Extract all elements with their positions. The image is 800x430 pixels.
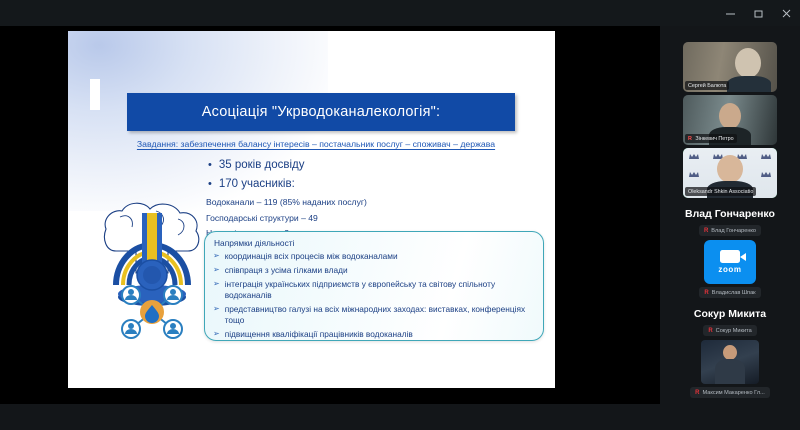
list-item: Господарські структури – 49: [206, 213, 367, 223]
window-titlebar: [0, 0, 800, 26]
close-icon[interactable]: [772, 0, 800, 26]
video-tile-participant-2[interactable]: R Зінкевич Петро: [683, 95, 777, 145]
chip-row[interactable]: R Владислав Шпак: [660, 287, 800, 298]
arrow-marker-icon: ➢: [213, 304, 220, 326]
avatar: [735, 48, 761, 78]
list-item: ➢ представництво галузі на всіх міжнарод…: [213, 304, 535, 326]
arrow-marker-icon: ➢: [213, 251, 220, 262]
page-title: Асоціація "Укрводоканалекологія":: [202, 104, 440, 120]
participant-name: Oleksandr Shkin Associatio: [688, 189, 753, 195]
participant-sidebar: Сергей Балюта R Зінкевич Петро: [660, 26, 800, 430]
zoom-meeting-window: Асоціація "Укрводоканалекологія": Завдан…: [0, 0, 800, 430]
list-item: ➢ координація всіх процесів між водокана…: [213, 251, 535, 262]
participant-name: Сокур Микита: [716, 328, 752, 334]
group-title: Влад Гончаренко: [660, 208, 800, 220]
minimize-icon[interactable]: [716, 0, 744, 26]
presentation-slide: Асоціація "Укрводоканалекологія": Завдан…: [68, 31, 555, 388]
recording-indicator-icon: R: [695, 390, 699, 396]
avatar: [719, 103, 741, 129]
group-title: Сокур Микита: [660, 308, 800, 320]
chip-row[interactable]: R Максим Макаренко Гл...: [660, 387, 800, 398]
bullet-text: 35 років досвіду: [219, 159, 305, 171]
avatar-body: [715, 359, 745, 384]
bullet-dot-icon: •: [208, 178, 212, 190]
avatar: [717, 155, 743, 183]
activity-text: представництво галузі на всіх міжнародни…: [225, 304, 535, 326]
participant-group-1: Влад Гончаренко R Влад Гончаренко zoom R…: [660, 208, 800, 298]
avatar-body: [727, 76, 771, 92]
slide-bullet-list: • 35 років досвіду • 170 учасників:: [208, 159, 305, 197]
activity-text: інтеграція українських підприємств у євр…: [225, 279, 535, 301]
chip-row[interactable]: R Влад Гончаренко: [660, 225, 800, 236]
activities-box: Напрямки діяльності ➢ координація всіх п…: [204, 231, 544, 341]
list-item: ➢ співпраця з усіма гілками влади: [213, 265, 535, 276]
activity-text: координація всіх процесів між водоканала…: [225, 251, 398, 262]
bullet-text: 170 учасників:: [219, 178, 295, 190]
participant-name-label: Сергей Балюта: [685, 81, 729, 90]
activity-text: підвищення кваліфікації працівників водо…: [225, 329, 413, 340]
participant-chip[interactable]: R Максим Макаренко Гл...: [690, 387, 770, 398]
recording-indicator-icon: R: [688, 136, 692, 142]
arrow-marker-icon: ➢: [213, 265, 220, 276]
zoom-logo-tile[interactable]: zoom: [704, 240, 756, 284]
arrow-marker-icon: ➢: [213, 279, 220, 301]
participant-name: Сергей Балюта: [688, 83, 726, 89]
participant-name: Зінкевич Петро: [695, 136, 733, 142]
recording-indicator-icon: R: [708, 328, 712, 334]
stakeholder-network-icon: [114, 281, 190, 343]
list-item: ➢ підвищення кваліфікації працівників во…: [213, 329, 535, 340]
avatar: [723, 345, 737, 360]
video-tile-participant-4[interactable]: [701, 340, 759, 384]
slide-title-band: Асоціація "Укрводоканалекологія":: [127, 93, 515, 131]
participant-chip[interactable]: R Влад Гончаренко: [699, 225, 761, 236]
arrow-marker-icon: ➢: [213, 329, 220, 340]
shared-screen-stage: Асоціація "Укрводоканалекологія": Завдан…: [0, 26, 660, 404]
bullet-dot-icon: •: [208, 159, 212, 171]
participant-name: Максим Макаренко Гл...: [703, 390, 765, 396]
list-item: ➢ інтеграція українських підприємств у є…: [213, 279, 535, 301]
video-tile-participant-3[interactable]: Oleksandr Shkin Associatio: [683, 148, 777, 198]
participant-name: Влад Гончаренко: [711, 228, 756, 234]
participant-chip[interactable]: R Владислав Шпак: [699, 287, 760, 298]
window-controls: [716, 0, 800, 26]
video-tile-participant-1[interactable]: Сергей Балюта: [683, 42, 777, 92]
camera-icon: [720, 250, 740, 263]
activity-text: співпраця з усіма гілками влади: [225, 265, 348, 276]
slide-accent-bar: [90, 79, 100, 110]
slide-subtitle: Завдання: забезпечення балансу інтересів…: [101, 139, 531, 149]
recording-indicator-icon: R: [704, 290, 708, 296]
recording-indicator-icon: R: [704, 228, 708, 234]
participant-name-label: R Зінкевич Петро: [685, 134, 737, 143]
participant-name: Владислав Шпак: [712, 290, 756, 296]
list-item: • 170 учасників:: [208, 178, 305, 190]
zoom-wordmark: zoom: [718, 265, 741, 274]
list-item: • 35 років досвіду: [208, 159, 305, 171]
participant-name-label: Oleksandr Shkin Associatio: [685, 187, 756, 196]
chip-row[interactable]: R Сокур Микита: [660, 325, 800, 336]
restore-icon[interactable]: [744, 0, 772, 26]
participant-chip[interactable]: R Сокур Микита: [703, 325, 756, 336]
list-item: Водоканали – 119 (85% наданих послуг): [206, 197, 367, 207]
activities-box-heading: Напрямки діяльності: [214, 238, 535, 248]
participant-group-2: Сокур Микита R Сокур Микита R Максим Мак…: [660, 308, 800, 398]
